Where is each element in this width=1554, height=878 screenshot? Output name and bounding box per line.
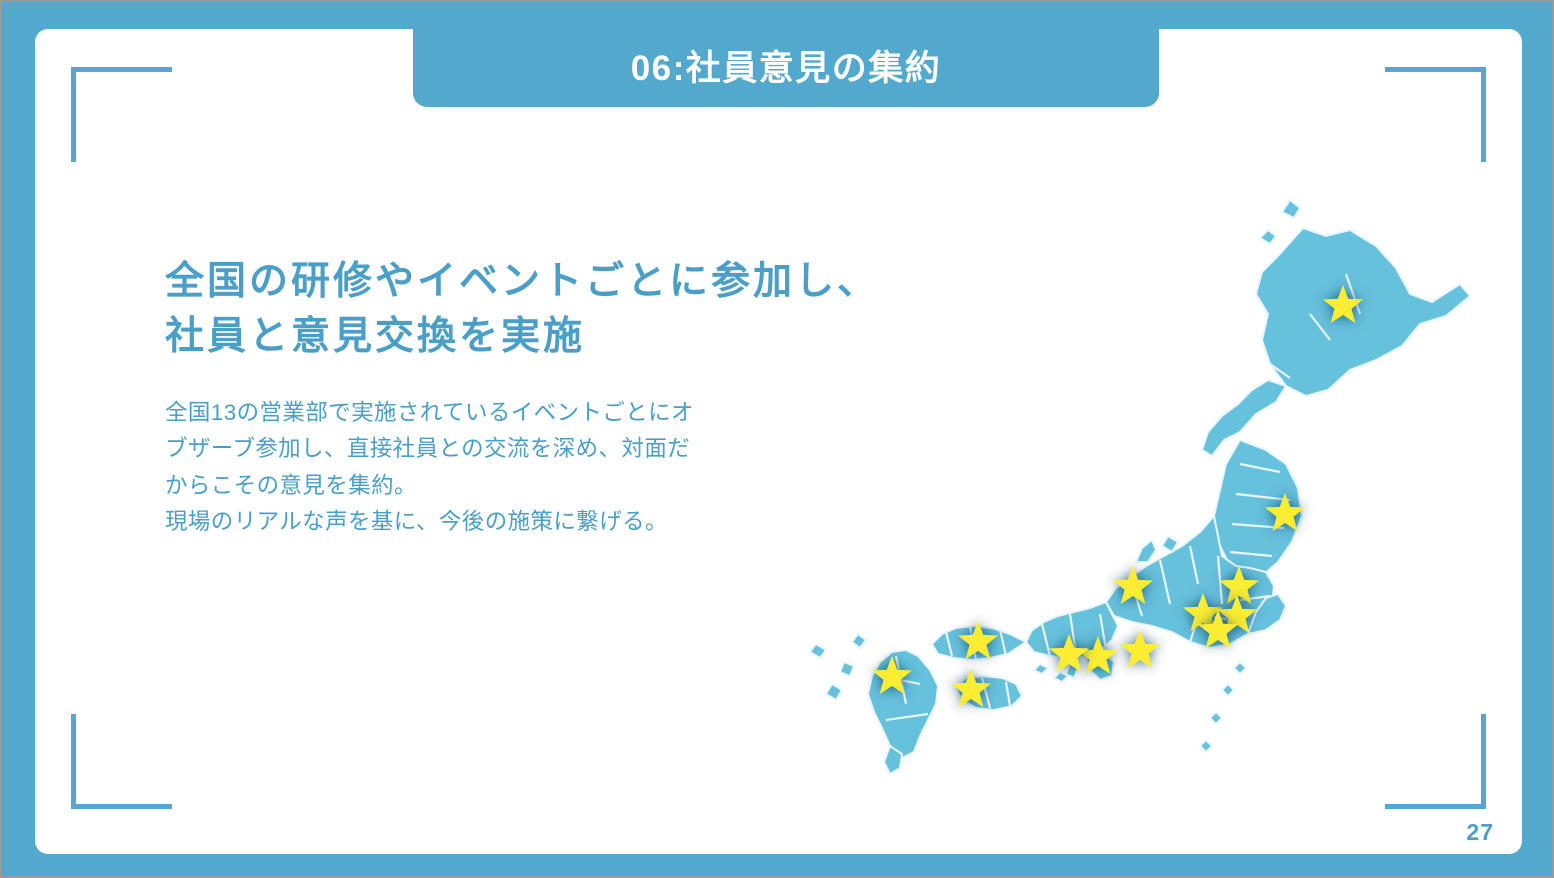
headline-line-2: 社員と意見交換を実施 [165, 309, 785, 364]
corner-bracket-top-left [71, 67, 172, 162]
slide-root: 06:社員意見の集約 全国の研修やイベントごとに参加し、 社員と意見交換を実施 … [0, 0, 1554, 878]
corner-bracket-top-right [1385, 67, 1486, 162]
map-region [1234, 662, 1246, 674]
page-number: 27 [1466, 819, 1494, 846]
map-region [826, 684, 842, 700]
map-region [1034, 664, 1048, 674]
section-header-tab: 06:社員意見の集約 [413, 29, 1159, 107]
slide-card: 06:社員意見の集約 全国の研修やイベントごとに参加し、 社員と意見交換を実施 … [35, 29, 1522, 854]
map-region [1256, 228, 1470, 396]
map-landmass [810, 200, 1470, 774]
map-region [868, 650, 938, 758]
page-title: 06:社員意見の集約 [631, 51, 942, 86]
map-region [1222, 684, 1234, 696]
corner-bracket-bottom-left [71, 714, 172, 809]
map-region [1260, 230, 1276, 244]
body-line-2: ブザーブ参加し、直接社員との交流を深め、対面だ [165, 431, 785, 467]
body-line-1: 全国13の営業部で実施されているイベントごとにオ [165, 395, 785, 431]
text-column: 全国の研修やイベントごとに参加し、 社員と意見交換を実施 全国13の営業部で実施… [165, 254, 785, 541]
map-region [852, 634, 866, 648]
japan-map-figure [770, 164, 1480, 784]
headline-line-1: 全国の研修やイベントごとに参加し、 [165, 254, 785, 309]
body-copy: 全国13の営業部で実施されているイベントごとにオ ブザーブ参加し、直接社員との交… [165, 395, 785, 541]
headline: 全国の研修やイベントごとに参加し、 社員と意見交換を実施 [165, 254, 785, 365]
map-region [840, 662, 854, 676]
japan-map-icon [770, 164, 1480, 784]
map-region [1210, 712, 1222, 724]
map-region [1136, 540, 1156, 562]
body-line-4: 現場のリアルな声を基に、今後の施策に繋げる。 [165, 504, 785, 540]
map-region [1200, 740, 1212, 752]
body-line-3: からこその意見を集約。 [165, 468, 785, 504]
star-marker-tokai [1120, 630, 1160, 668]
map-region [810, 644, 826, 658]
map-region [1282, 200, 1300, 218]
